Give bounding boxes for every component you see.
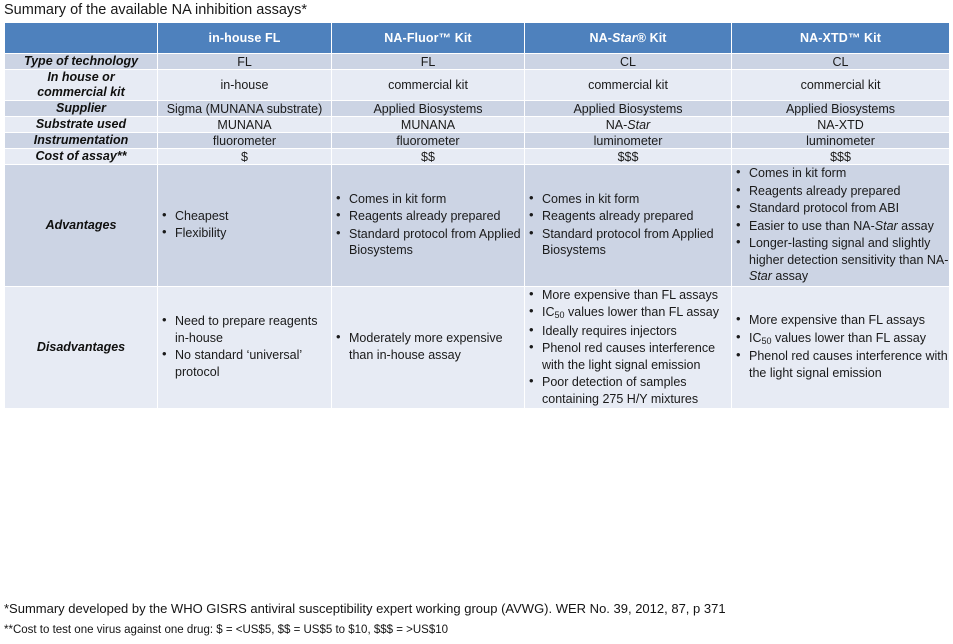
table-row: AdvantagesCheapestFlexibilityComes in ki…	[5, 165, 950, 287]
table-cell-list: Comes in kit formReagents already prepar…	[732, 165, 950, 287]
table-body: Type of technologyFLFLCLCLIn house orcom…	[5, 54, 950, 409]
table-cell: commercial kit	[525, 70, 732, 101]
row-label: In house orcommercial kit	[5, 70, 158, 101]
list-item: Comes in kit form	[349, 191, 524, 208]
table-cell: $$$	[732, 149, 950, 165]
table-row: Type of technologyFLFLCLCL	[5, 54, 950, 70]
table-cell: MUNANA	[158, 117, 332, 133]
table-cell: MUNANA	[332, 117, 525, 133]
table-cell-list: Comes in kit formReagents already prepar…	[332, 165, 525, 287]
table-cell: commercial kit	[332, 70, 525, 101]
table-row: Instrumentationfluorometerfluorometerlum…	[5, 133, 950, 149]
row-label: Instrumentation	[5, 133, 158, 149]
table-cell: $$$	[525, 149, 732, 165]
footnotes: *Summary developed by the WHO GISRS anti…	[4, 600, 949, 639]
table-cell: fluorometer	[158, 133, 332, 149]
list-item: Cheapest	[175, 208, 331, 225]
list-item: Reagents already prepared	[542, 208, 731, 225]
table-cell: fluorometer	[332, 133, 525, 149]
list-item: Comes in kit form	[542, 191, 731, 208]
list-item: No standard ‘universal’ protocol	[175, 347, 331, 380]
table-cell-list: Comes in kit formReagents already prepar…	[525, 165, 732, 287]
table-corner-cell	[5, 23, 158, 54]
table-header: in-house FL NA-Fluor™ Kit NA-Star® Kit N…	[5, 23, 950, 54]
list-item: Moderately more expensive than in-house …	[349, 330, 524, 363]
assay-summary-table: in-house FL NA-Fluor™ Kit NA-Star® Kit N…	[4, 22, 950, 409]
bullet-list: Need to prepare reagents in-houseNo stan…	[158, 313, 331, 380]
row-label: Advantages	[5, 165, 158, 287]
table-row: Cost of assay**$$$$$$$$$	[5, 149, 950, 165]
row-label: Supplier	[5, 101, 158, 117]
bullet-list: More expensive than FL assaysIC50 values…	[732, 312, 949, 381]
table-cell-list: Need to prepare reagents in-houseNo stan…	[158, 286, 332, 409]
table-header-row: in-house FL NA-Fluor™ Kit NA-Star® Kit N…	[5, 23, 950, 54]
list-item: IC50 values lower than FL assay	[749, 330, 949, 348]
table-cell: in-house	[158, 70, 332, 101]
list-item: Comes in kit form	[749, 165, 949, 182]
list-item: Longer-lasting signal and slightly highe…	[749, 235, 949, 285]
bullet-list: CheapestFlexibility	[158, 208, 331, 242]
table-cell: $	[158, 149, 332, 165]
slide-page: Summary of the available NA inhibition a…	[0, 0, 953, 644]
list-item: Reagents already prepared	[749, 183, 949, 200]
table-cell: FL	[332, 54, 525, 70]
column-header-na-star: NA-Star® Kit	[525, 23, 732, 54]
list-item: Phenol red causes interference with the …	[749, 348, 949, 381]
list-item: Phenol red causes interference with the …	[542, 340, 731, 373]
list-item: Standard protocol from Applied Biosystem…	[542, 226, 731, 259]
list-item: Easier to use than NA-Star assay	[749, 218, 949, 235]
footnote-source: *Summary developed by the WHO GISRS anti…	[4, 600, 949, 618]
column-header-inhouse-fl: in-house FL	[158, 23, 332, 54]
list-item: Ideally requires injectors	[542, 323, 731, 340]
table-cell: NA-Star	[525, 117, 732, 133]
row-label: Cost of assay**	[5, 149, 158, 165]
bullet-list: Moderately more expensive than in-house …	[332, 330, 524, 363]
list-item: Reagents already prepared	[349, 208, 524, 225]
table-cell-list: Moderately more expensive than in-house …	[332, 286, 525, 409]
table-row: Substrate usedMUNANAMUNANANA-StarNA-XTD	[5, 117, 950, 133]
table-cell: Applied Biosystems	[732, 101, 950, 117]
table-cell-list: More expensive than FL assaysIC50 values…	[732, 286, 950, 409]
table-row: SupplierSigma (MUNANA substrate)Applied …	[5, 101, 950, 117]
table-cell: NA-XTD	[732, 117, 950, 133]
row-label: Type of technology	[5, 54, 158, 70]
table-cell: luminometer	[732, 133, 950, 149]
footnote-cost-legend: **Cost to test one virus against one dru…	[4, 622, 949, 639]
table-cell: Sigma (MUNANA substrate)	[158, 101, 332, 117]
bullet-list: Comes in kit formReagents already prepar…	[332, 191, 524, 259]
table-cell: Applied Biosystems	[525, 101, 732, 117]
row-label: Disadvantages	[5, 286, 158, 409]
table-cell: Applied Biosystems	[332, 101, 525, 117]
table-cell: FL	[158, 54, 332, 70]
list-item: Need to prepare reagents in-house	[175, 313, 331, 346]
table-cell: CL	[732, 54, 950, 70]
bullet-list: Comes in kit formReagents already prepar…	[525, 191, 731, 259]
table-row: In house orcommercial kitin-housecommerc…	[5, 70, 950, 101]
table-row: DisadvantagesNeed to prepare reagents in…	[5, 286, 950, 409]
table-cell: luminometer	[525, 133, 732, 149]
list-item: Standard protocol from Applied Biosystem…	[349, 226, 524, 259]
list-item: Standard protocol from ABI	[749, 200, 949, 217]
table-cell: commercial kit	[732, 70, 950, 101]
column-header-na-xtd: NA-XTD™ Kit	[732, 23, 950, 54]
list-item: Flexibility	[175, 225, 331, 242]
table-cell-list: More expensive than FL assaysIC50 values…	[525, 286, 732, 409]
column-header-na-fluor: NA-Fluor™ Kit	[332, 23, 525, 54]
list-item: More expensive than FL assays	[749, 312, 949, 329]
table-cell-list: CheapestFlexibility	[158, 165, 332, 287]
page-title: Summary of the available NA inhibition a…	[4, 0, 307, 20]
list-item: More expensive than FL assays	[542, 287, 731, 304]
row-label: Substrate used	[5, 117, 158, 133]
bullet-list: Comes in kit formReagents already prepar…	[732, 165, 949, 285]
table-cell: CL	[525, 54, 732, 70]
list-item: IC50 values lower than FL assay	[542, 304, 731, 322]
bullet-list: More expensive than FL assaysIC50 values…	[525, 287, 731, 408]
list-item: Poor detection of samples containing 275…	[542, 374, 731, 407]
table-cell: $$	[332, 149, 525, 165]
